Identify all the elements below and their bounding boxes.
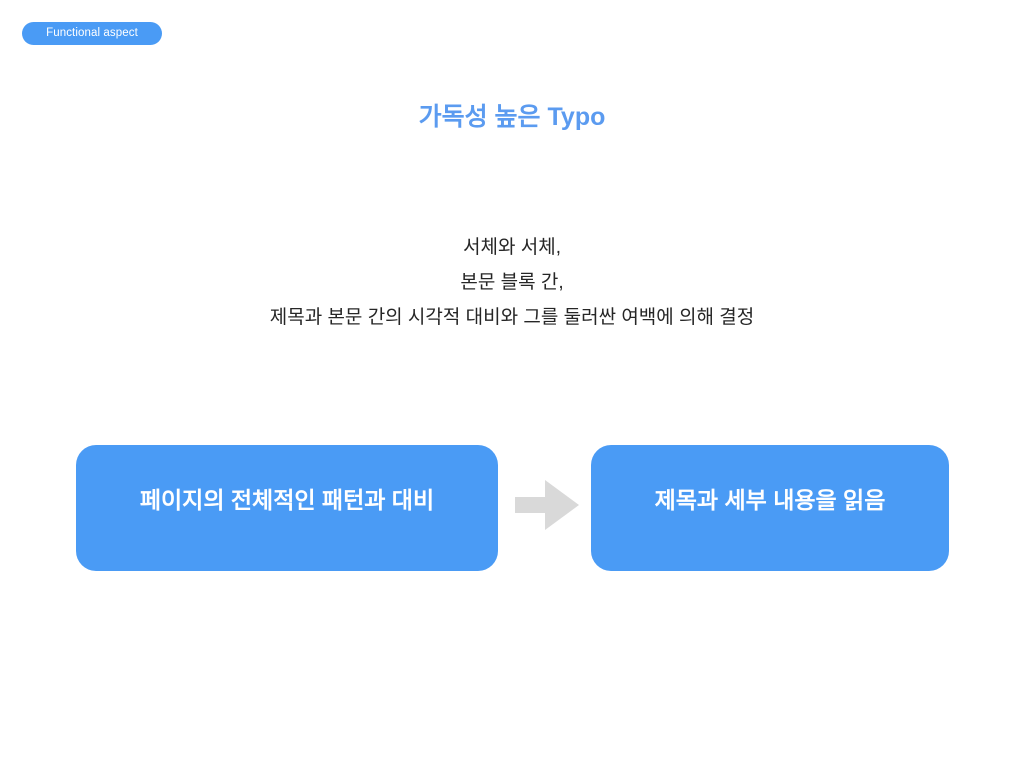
flow-box-left: 페이지의 전체적인 패턴과 대비 <box>76 445 498 571</box>
flow-diagram: 페이지의 전체적인 패턴과 대비 제목과 세부 내용을 읽음 <box>0 445 1024 571</box>
slide-canvas: Functional aspect 가독성 높은 Typo 서체와 서체, 본문… <box>0 0 1024 768</box>
body-line: 제목과 본문 간의 시각적 대비와 그를 둘러싼 여백에 의해 결정 <box>0 300 1024 335</box>
flow-box-right: 제목과 세부 내용을 읽음 <box>591 445 949 571</box>
category-badge-label: Functional aspect <box>46 28 138 40</box>
category-badge: Functional aspect <box>22 22 162 45</box>
flow-box-left-label: 페이지의 전체적인 패턴과 대비 <box>140 489 434 512</box>
body-line: 본문 블록 간, <box>0 265 1024 300</box>
body-line: 서체와 서체, <box>0 230 1024 265</box>
body-text-block: 서체와 서체, 본문 블록 간, 제목과 본문 간의 시각적 대비와 그를 둘러… <box>0 230 1024 335</box>
slide-title: 가독성 높은 Typo <box>0 102 1024 133</box>
flow-box-right-label: 제목과 세부 내용을 읽음 <box>655 489 886 512</box>
arrow-right-icon <box>515 480 579 530</box>
